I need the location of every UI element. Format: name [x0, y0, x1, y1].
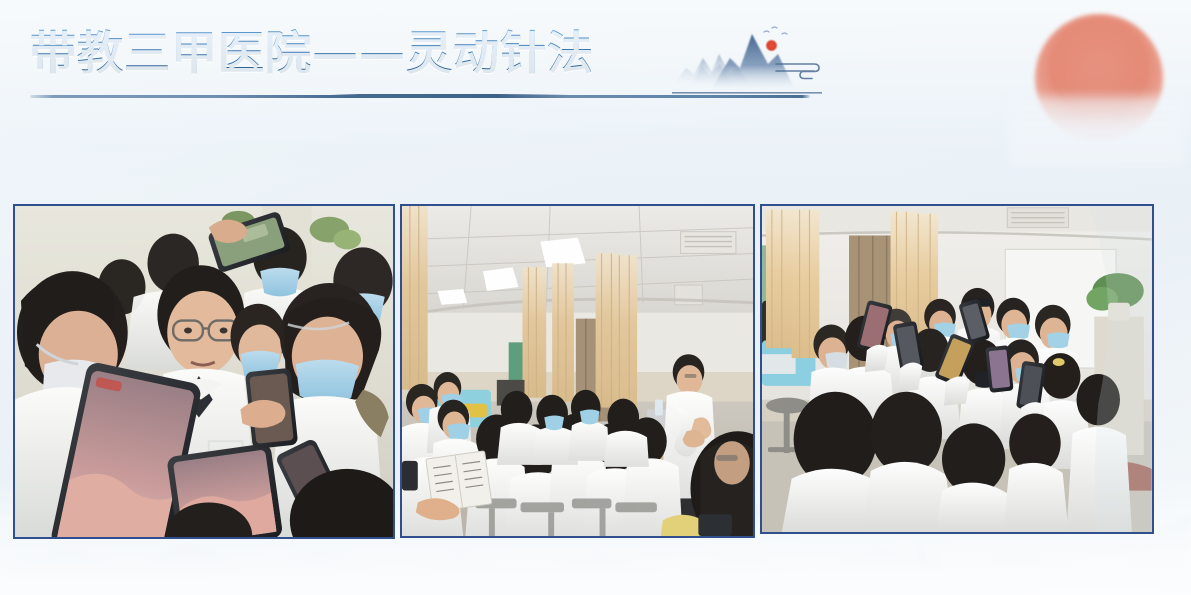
photo-3-image: [762, 206, 1152, 532]
slide-canvas: 带教三甲医院——灵动针法: [0, 0, 1191, 595]
photo-2-frame[interactable]: 病房内讲课场景，主讲人站立示范，学员坐着听讲: [400, 204, 756, 538]
sun-horizon-mask: [1009, 96, 1185, 166]
photo-1-image: [15, 206, 393, 537]
photo-2-image: [402, 206, 754, 536]
page-title: 带教三甲医院——灵动针法: [30, 22, 594, 84]
photo-3-frame[interactable]: 医护人员围成一圈举手机拍摄针法演示: [760, 204, 1154, 534]
rising-sun-icon: [1035, 14, 1163, 142]
photo-strip: 白大褂医护人员围观主讲医师，多人举手机拍摄: [13, 204, 1154, 540]
title-block: 带教三甲医院——灵动针法: [30, 22, 830, 108]
photo-1-frame[interactable]: 白大褂医护人员围观主讲医师，多人举手机拍摄: [13, 204, 395, 539]
title-divider-accent: [330, 94, 570, 98]
